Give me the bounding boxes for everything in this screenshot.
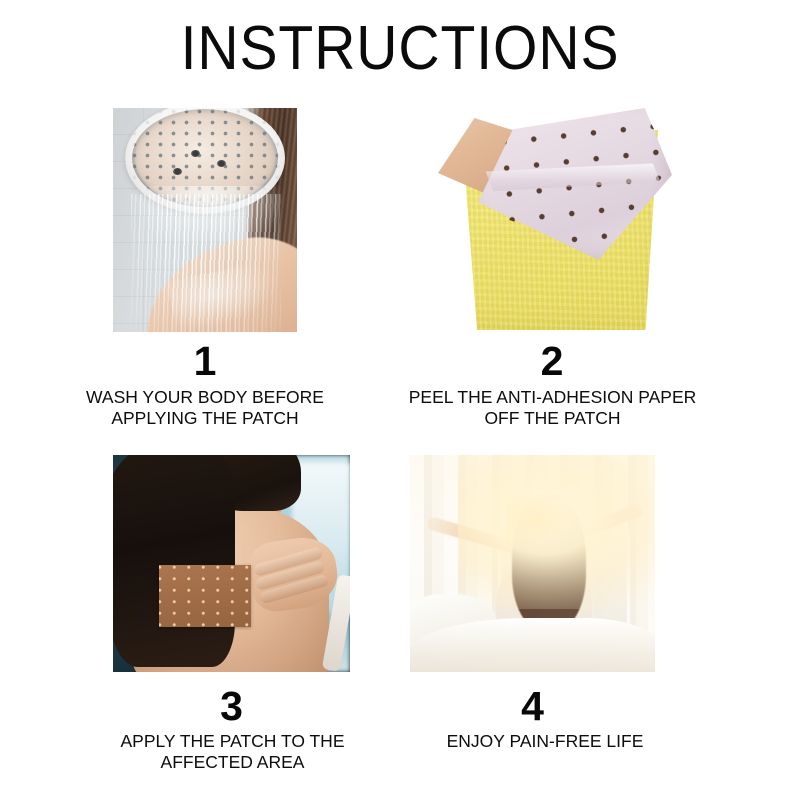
step-1-photo-shower bbox=[113, 108, 297, 332]
step-2-caption-line1: PEEL THE ANTI-ADHESION PAPER bbox=[375, 387, 730, 408]
water-spray bbox=[131, 194, 281, 332]
step-1-caption-line1: WASH YOUR BODY BEFORE bbox=[75, 387, 335, 408]
step-3-number: 3 bbox=[113, 686, 350, 727]
patch-perforation-dots bbox=[159, 565, 251, 627]
step-2-number: 2 bbox=[432, 341, 672, 382]
hair bbox=[113, 455, 235, 667]
step-3-photo-patch-on-back bbox=[113, 455, 350, 672]
step-4-number: 4 bbox=[410, 686, 655, 727]
pain-relief-patch bbox=[159, 565, 251, 627]
step-2-caption-line2: OFF THE PATCH bbox=[375, 408, 730, 429]
step-1-number: 1 bbox=[113, 341, 297, 382]
hair-backlight bbox=[506, 493, 592, 553]
step-4-photo-waking-in-sunlight bbox=[410, 455, 655, 672]
page-title: INSTRUCTIONS bbox=[32, 18, 768, 80]
step-3-caption-line2: AFFECTED AREA bbox=[90, 752, 375, 773]
step-3-caption-line1: APPLY THE PATCH TO THE bbox=[90, 731, 375, 752]
step-4-caption-line1: ENJOY PAIN-FREE LIFE bbox=[400, 731, 690, 752]
step-2-photo-patch-peel bbox=[432, 108, 672, 332]
step-1-caption-line2: APPLYING THE PATCH bbox=[75, 408, 335, 429]
